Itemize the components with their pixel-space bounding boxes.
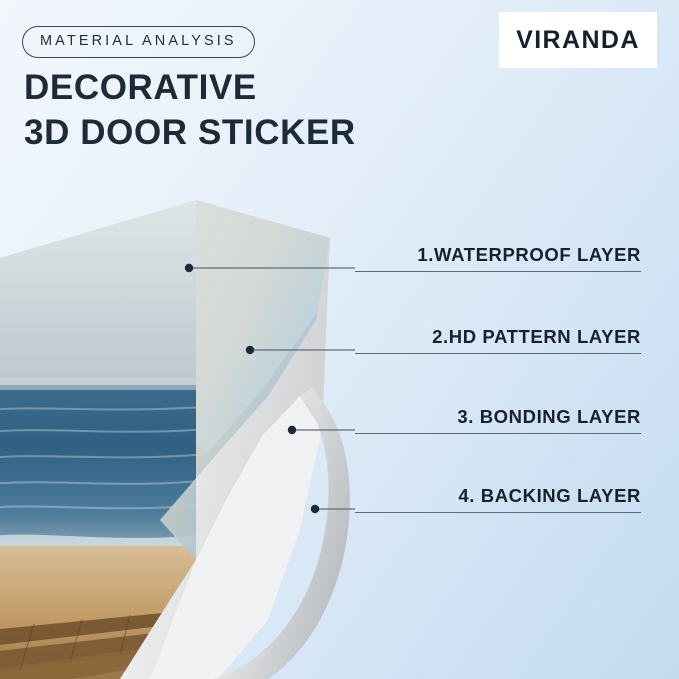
callout-label-4: 4. BACKING LAYER xyxy=(458,485,641,507)
callout-label-3: 3. BONDING LAYER xyxy=(457,406,641,428)
title-line-2: 3D DOOR STICKER xyxy=(24,111,356,156)
callout-rule-3 xyxy=(355,433,641,435)
page-title: DECORATIVE 3D DOOR STICKER xyxy=(24,66,356,156)
callout-layer-4: 4. BACKING LAYER xyxy=(355,469,641,513)
brand-name: VIRANDA xyxy=(516,26,640,55)
poster-canvas: MATERIAL ANALYSIS DECORATIVE 3D DOOR STI… xyxy=(0,0,679,679)
callout-rule-4 xyxy=(355,512,641,514)
callout-layer-2: 2.HD PATTERN LAYER xyxy=(355,310,641,354)
callout-rule-2 xyxy=(355,353,641,355)
callout-label-2: 2.HD PATTERN LAYER xyxy=(432,326,641,348)
eyebrow-badge: MATERIAL ANALYSIS xyxy=(22,26,255,58)
brand-logo-box: VIRANDA xyxy=(499,12,657,68)
callout-rule-1 xyxy=(355,271,641,273)
callout-label-1: 1.WATERPROOF LAYER xyxy=(417,244,641,266)
callout-layer-1: 1.WATERPROOF LAYER xyxy=(355,228,641,272)
callout-layer-3: 3. BONDING LAYER xyxy=(355,390,641,434)
title-line-1: DECORATIVE xyxy=(24,68,257,107)
